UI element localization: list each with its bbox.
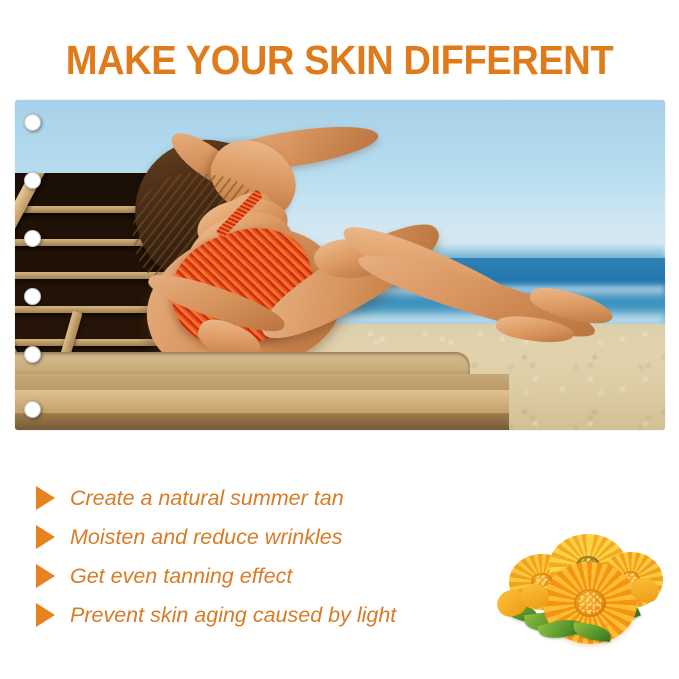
beach-scene-illustration [15,100,665,430]
punch-hole [24,346,41,363]
triangle-right-icon [36,564,55,588]
punch-hole [24,114,41,131]
lounger-board-upper [15,390,509,413]
triangle-right-icon [36,603,55,627]
benefit-text: Get even tanning effect [70,564,292,588]
triangle-right-icon [36,525,55,549]
list-item: Prevent skin aging caused by light [36,595,466,634]
lounger-board-lower [15,414,509,431]
benefit-text: Moisten and reduce wrinkles [70,525,342,549]
punch-hole [24,288,41,305]
benefit-text: Create a natural summer tan [70,486,344,510]
list-item: Create a natural summer tan [36,478,466,517]
benefit-text: Prevent skin aging caused by light [70,603,396,627]
list-item: Get even tanning effect [36,556,466,595]
punch-hole [24,230,41,247]
product-infographic: MAKE YOUR SKIN DIFFERENT [0,0,679,679]
page-title: MAKE YOUR SKIN DIFFERENT [24,38,655,82]
punch-hole [24,172,41,189]
hero-photo [15,100,665,430]
punch-hole [24,401,41,418]
triangle-right-icon [36,486,55,510]
list-item: Moisten and reduce wrinkles [36,517,466,556]
benefits-list: Create a natural summer tan Moisten and … [36,478,466,634]
calendula-flowers-image [495,528,660,640]
